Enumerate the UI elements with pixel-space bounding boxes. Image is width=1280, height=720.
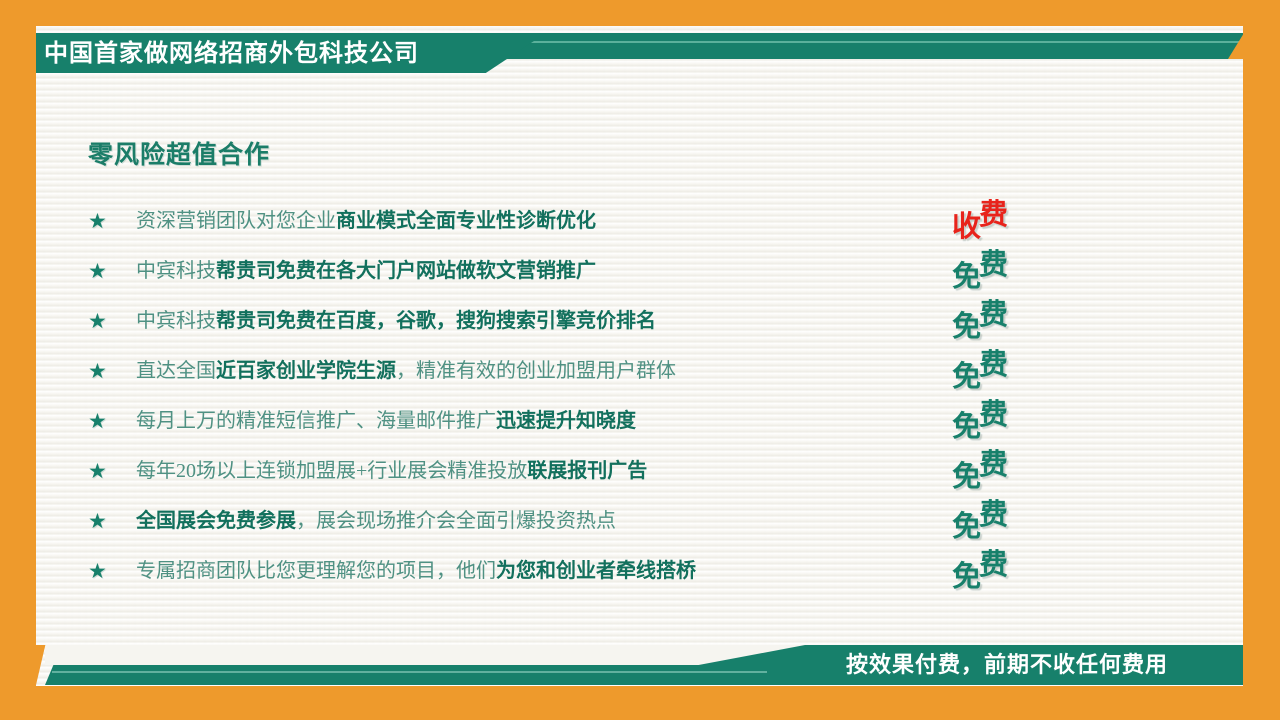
header-title: 中国首家做网络招商外包科技公司 — [44, 38, 504, 70]
benefit-text-normal: 每月上万的精准短信推广、海量邮件推广 — [136, 410, 496, 432]
price-badge: 免费 — [952, 490, 1072, 540]
price-badge: 免费 — [952, 440, 1072, 490]
price-char-second: 费 — [979, 340, 1006, 390]
price-char-second: 费 — [979, 240, 1006, 290]
benefit-text-emphasis: 帮贵司免费在各大门户网站做软文营销推广 — [216, 260, 596, 282]
price-badge: 免费 — [952, 240, 1072, 290]
price-column: 收费免费免费免费免费免费免费免费 — [952, 190, 1072, 590]
benefit-text-normal: ，精准有效的创业加盟用户群体 — [396, 360, 676, 382]
star-icon: ★ — [88, 361, 136, 382]
benefit-text-normal: 专属招商团队比您更理解您的项目，他们 — [136, 560, 496, 582]
footer-accent-line — [52, 671, 767, 673]
benefit-text-emphasis: 为您和创业者牵线搭桥 — [496, 560, 696, 582]
page-title: 零风险超值合作 — [88, 135, 270, 171]
star-icon: ★ — [88, 511, 136, 532]
benefit-text-emphasis: 近百家创业学院生源 — [216, 360, 396, 382]
price-char-second: 费 — [979, 390, 1006, 440]
price-badge: 免费 — [952, 390, 1072, 440]
benefit-text-normal: 中宾科技 — [136, 310, 216, 332]
price-char-first: 免 — [952, 552, 979, 602]
price-char-second: 费 — [979, 490, 1006, 540]
benefit-text-normal: 资深营销团队对您企业 — [136, 210, 336, 232]
price-badge: 免费 — [952, 540, 1072, 590]
footer-slogan: 按效果付费，前期不收任何费用 — [846, 646, 1168, 684]
price-badge: 免费 — [952, 340, 1072, 390]
star-icon: ★ — [88, 461, 136, 482]
star-icon: ★ — [88, 311, 136, 332]
benefit-text-emphasis: 全国展会免费参展 — [136, 510, 296, 532]
price-char-second: 费 — [979, 190, 1006, 240]
benefit-text-emphasis: 帮贵司免费在百度，谷歌，搜狗搜索引擎竞价排名 — [216, 310, 656, 332]
star-icon: ★ — [88, 411, 136, 432]
price-char-second: 费 — [979, 290, 1006, 340]
benefit-text-normal: ，展会现场推介会全面引爆投资热点 — [296, 510, 616, 532]
benefit-text-emphasis: 迅速提升知晓度 — [496, 410, 636, 432]
benefit-text-emphasis: 商业模式全面专业性诊断优化 — [336, 210, 596, 232]
benefit-text-normal: 每年20场以上连锁加盟展+行业展会精准投放 — [136, 460, 527, 482]
benefit-text-normal: 直达全国 — [136, 360, 216, 382]
price-char-second: 费 — [979, 440, 1006, 490]
star-icon: ★ — [88, 261, 136, 282]
benefit-text-normal: 中宾科技 — [136, 260, 216, 282]
price-badge: 免费 — [952, 290, 1072, 340]
slide-canvas: 中国首家做网络招商外包科技公司 零风险超值合作 ★资深营销团队对您企业商业模式全… — [0, 0, 1280, 720]
price-badge: 收费 — [952, 190, 1072, 240]
price-char-second: 费 — [979, 540, 1006, 590]
star-icon: ★ — [88, 561, 136, 582]
star-icon: ★ — [88, 211, 136, 232]
footer-notch — [45, 645, 805, 665]
benefit-text-emphasis: 联展报刊广告 — [527, 460, 647, 482]
